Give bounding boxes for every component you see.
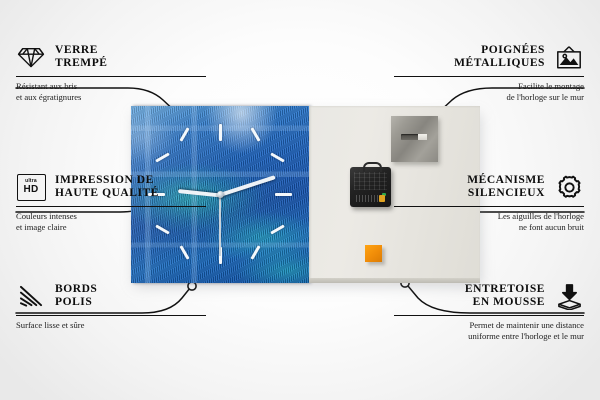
callout-title: VERRE TREMPÉ bbox=[55, 44, 108, 70]
ultra-hd-badge-icon: ultra HD bbox=[16, 172, 46, 202]
callout-verre-trempe: VERRE TREMPÉ Résistant aux bris et aux é… bbox=[16, 42, 206, 102]
callout-title: ENTRETOISE EN MOUSSE bbox=[465, 283, 545, 309]
quartz-mechanism bbox=[350, 167, 391, 207]
foam-spacer bbox=[365, 245, 382, 262]
callout-rule bbox=[16, 76, 206, 77]
callout-title: MÉCANISME SILENCIEUX bbox=[467, 174, 545, 200]
infographic-canvas: VERRE TREMPÉ Résistant aux bris et aux é… bbox=[0, 0, 600, 400]
callout-title: POIGNÉES MÉTALLIQUES bbox=[454, 44, 545, 70]
callout-bords-polis: BORDS POLIS Surface lisse et sûre bbox=[16, 281, 206, 331]
battery bbox=[354, 194, 387, 203]
hanger-slot bbox=[401, 134, 427, 140]
framed-picture-icon bbox=[554, 42, 584, 72]
mechanism-label bbox=[354, 172, 387, 190]
hd-badge: ultra HD bbox=[17, 174, 46, 201]
diamond-icon bbox=[16, 42, 46, 72]
callout-header: ENTRETOISE EN MOUSSE bbox=[394, 281, 584, 311]
callout-impression-haute-qualite: ultra HD IMPRESSION DE HAUTE QUALITÉ Cou… bbox=[16, 172, 206, 232]
metal-hanger-plate bbox=[391, 116, 438, 162]
callout-rule bbox=[16, 206, 206, 207]
callout-description: Résistant aux bris et aux égratignures bbox=[16, 81, 206, 102]
diagonal-lines-icon bbox=[16, 281, 46, 311]
callout-description: Les aiguilles de l'horloge ne font aucun… bbox=[394, 211, 584, 232]
callout-entretoise-en-mousse: ENTRETOISE EN MOUSSE Permet de maintenir… bbox=[394, 281, 584, 341]
second-hand bbox=[219, 194, 220, 256]
hour-marker-12 bbox=[219, 124, 222, 141]
callout-rule bbox=[394, 315, 584, 316]
callout-title: IMPRESSION DE HAUTE QUALITÉ bbox=[55, 174, 159, 200]
callout-description: Couleurs intenses et image claire bbox=[16, 211, 206, 232]
hand-center-cap bbox=[217, 191, 224, 198]
battery-label bbox=[356, 195, 380, 202]
callout-mecanisme-silencieux: MÉCANISME SILENCIEUX Les aiguilles de l'… bbox=[394, 172, 584, 232]
callout-header: ultra HD IMPRESSION DE HAUTE QUALITÉ bbox=[16, 172, 206, 202]
hd-badge-large-text: HD bbox=[23, 185, 38, 195]
callout-header: VERRE TREMPÉ bbox=[16, 42, 206, 72]
mechanism-hook bbox=[363, 162, 382, 172]
callout-header: BORDS POLIS bbox=[16, 281, 206, 311]
arrow-down-onto-pad-icon bbox=[554, 281, 584, 311]
callout-rule bbox=[394, 206, 584, 207]
callout-description: Facilite le montage de l'horloge sur le … bbox=[394, 81, 584, 102]
callout-description: Surface lisse et sûre bbox=[16, 320, 206, 330]
gear-icon bbox=[554, 172, 584, 202]
hour-marker-3 bbox=[275, 193, 292, 196]
callout-poignees-metalliques: POIGNÉES MÉTALLIQUES Facilite le montage… bbox=[394, 42, 584, 102]
callout-rule bbox=[394, 76, 584, 77]
callout-description: Permet de maintenir une distance uniform… bbox=[394, 320, 584, 341]
callout-rule bbox=[16, 315, 206, 316]
callout-header: MÉCANISME SILENCIEUX bbox=[394, 172, 584, 202]
callout-header: POIGNÉES MÉTALLIQUES bbox=[394, 42, 584, 72]
callout-title: BORDS POLIS bbox=[55, 283, 97, 309]
